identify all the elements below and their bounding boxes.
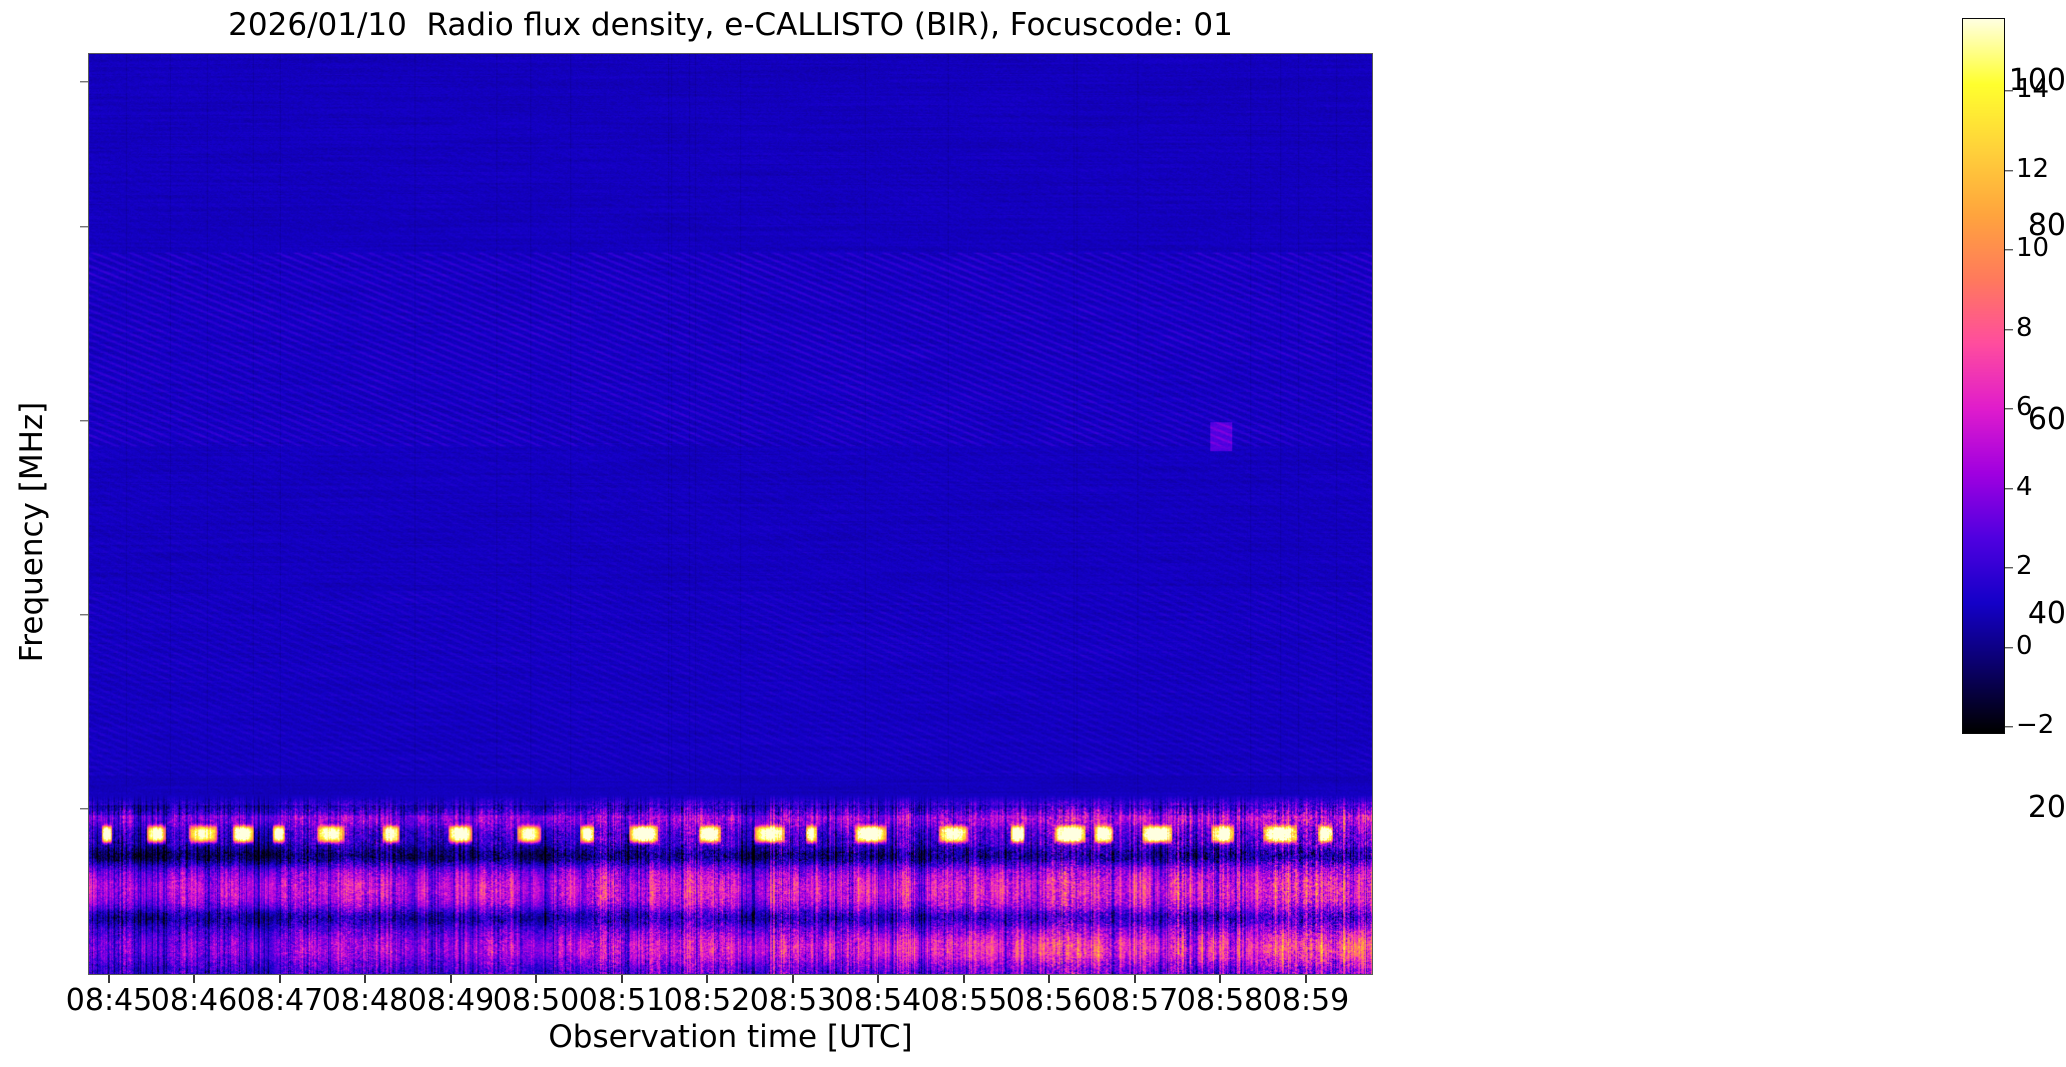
x-tick-mark xyxy=(792,975,793,983)
x-tick-mark xyxy=(450,975,451,983)
colorbar-tick-label: 12 xyxy=(2016,154,2049,184)
y-tick-mark xyxy=(80,614,88,615)
colorbar-tick-mark xyxy=(2005,567,2013,568)
x-tick-mark xyxy=(877,975,878,983)
colorbar-gradient xyxy=(1963,19,2004,733)
colorbar-tick-label: 4 xyxy=(2016,472,2033,502)
x-tick-mark xyxy=(1134,975,1135,983)
x-tick-mark xyxy=(1219,975,1220,983)
colorbar-tick-mark xyxy=(2005,647,2013,648)
colorbar-tick-mark xyxy=(2005,726,2013,727)
x-tick-mark xyxy=(1048,975,1049,983)
x-tick-mark xyxy=(364,975,365,983)
colorbar-tick-mark xyxy=(2005,170,2013,171)
colorbar-tick-mark xyxy=(2005,249,2013,250)
x-tick-mark xyxy=(1305,975,1306,983)
colorbar xyxy=(1962,18,2005,734)
x-axis-label: Observation time [UTC] xyxy=(88,1019,1373,1055)
colorbar-tick-mark xyxy=(2005,488,2013,489)
colorbar-tick-label: 2 xyxy=(2016,551,2033,581)
x-tick-mark xyxy=(706,975,707,983)
y-tick-mark xyxy=(80,226,88,227)
x-tick-mark xyxy=(535,975,536,983)
colorbar-tick-mark xyxy=(2005,90,2013,91)
y-tick-label: 60 xyxy=(2000,402,2066,437)
colorbar-tick-label: −2 xyxy=(2016,710,2054,740)
colorbar-tick-label: 8 xyxy=(2016,313,2033,343)
colorbar-tick-label: 10 xyxy=(2016,233,2049,263)
x-tick-mark xyxy=(279,975,280,983)
colorbar-tick-mark xyxy=(2005,408,2013,409)
y-tick-mark xyxy=(80,808,88,809)
y-tick-mark xyxy=(80,81,88,82)
x-tick-mark xyxy=(963,975,964,983)
x-tick-mark xyxy=(193,975,194,983)
x-tick-label: 08:59 xyxy=(1216,983,1396,1018)
colorbar-tick-mark xyxy=(2005,329,2013,330)
colorbar-tick-label: 0 xyxy=(2016,631,2033,661)
y-tick-label: 20 xyxy=(2000,790,2066,825)
y-axis-label: Frequency [MHz] xyxy=(14,252,50,812)
page-title: 2026/01/10 Radio flux density, e-CALLIST… xyxy=(88,4,1373,46)
y-tick-mark xyxy=(80,420,88,421)
colorbar-tick-label: 14 xyxy=(2016,74,2049,104)
x-tick-mark xyxy=(108,975,109,983)
y-tick-label: 40 xyxy=(2000,596,2066,631)
colorbar-tick-label: 6 xyxy=(2016,392,2033,422)
spectrogram-heatmap xyxy=(89,54,1372,974)
spectrogram-axes xyxy=(88,53,1373,975)
x-tick-mark xyxy=(621,975,622,983)
